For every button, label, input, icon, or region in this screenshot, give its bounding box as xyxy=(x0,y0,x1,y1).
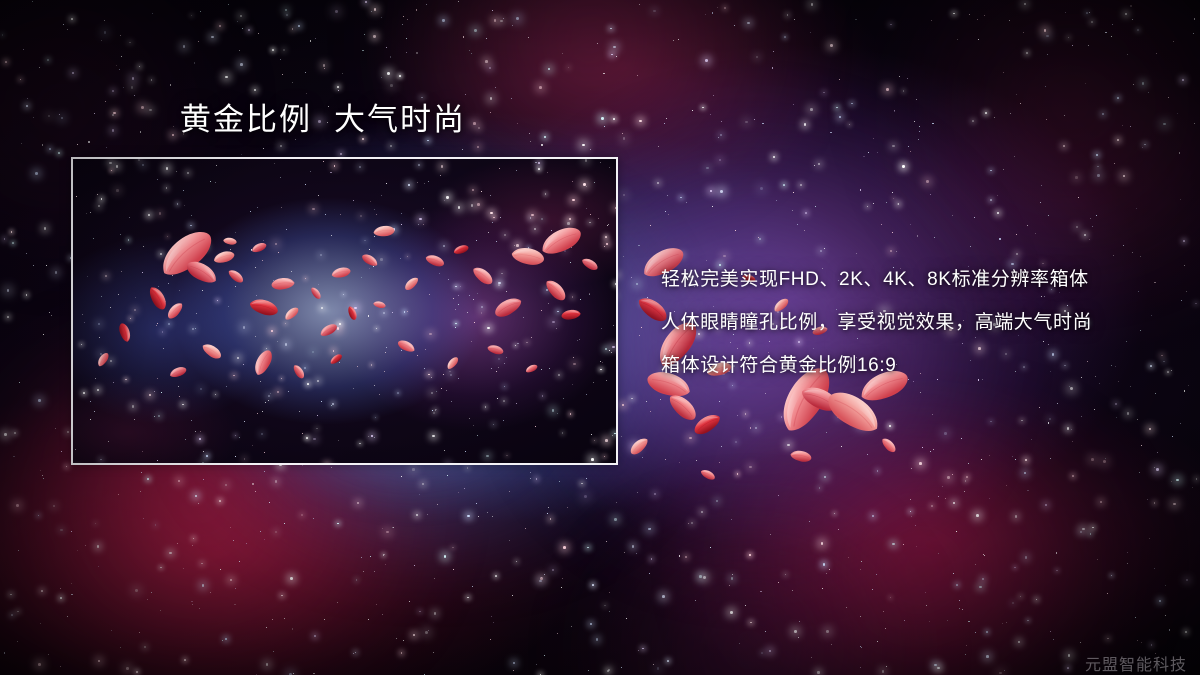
petal xyxy=(146,283,171,313)
page-title-part1: 黄金比例 xyxy=(180,102,312,137)
body-line-3: 箱体设计符合黄金比例16:9 xyxy=(661,344,1161,387)
petal xyxy=(470,263,497,288)
page-title: 黄金比例大气时尚 xyxy=(180,101,466,139)
petal xyxy=(291,362,307,380)
watermark: 元盟智能科技 xyxy=(1085,651,1187,675)
petal xyxy=(373,224,396,238)
petal xyxy=(510,244,547,269)
framed-photo-image xyxy=(73,159,616,463)
petal xyxy=(152,221,221,284)
petal xyxy=(222,236,237,246)
petal xyxy=(318,321,339,339)
petal xyxy=(580,255,601,273)
petal xyxy=(309,285,324,301)
petal xyxy=(328,352,344,367)
petal xyxy=(402,274,420,292)
page-title-part2: 大气时尚 xyxy=(334,102,466,137)
petal xyxy=(346,305,359,322)
framed-photo xyxy=(71,157,618,465)
petal xyxy=(536,221,586,260)
petal xyxy=(524,363,539,375)
slide-canvas: 黄金比例大气时尚 轻松完美实现FHD、2K、4K、8K标准分辨率箱体 人体眼睛瞳… xyxy=(0,0,1200,675)
petal xyxy=(330,265,352,280)
petal xyxy=(486,343,505,357)
petal xyxy=(542,276,570,305)
body-copy: 轻松完美实现FHD、2K、4K、8K标准分辨率箱体 人体眼睛瞳孔比例，享受视觉效… xyxy=(661,258,1161,387)
petal xyxy=(282,305,301,323)
petal xyxy=(445,355,461,372)
petal xyxy=(250,240,268,254)
petal xyxy=(226,266,246,285)
petal xyxy=(95,350,112,368)
petal xyxy=(560,307,582,321)
petal xyxy=(270,275,296,291)
petal xyxy=(250,347,276,379)
body-line-2: 人体眼睛瞳孔比例，享受视觉效果，高端大气时尚 xyxy=(661,301,1161,344)
petal xyxy=(183,256,221,288)
petal xyxy=(491,293,525,322)
petal xyxy=(164,299,185,321)
petal xyxy=(424,252,447,270)
petal xyxy=(168,364,188,380)
petal xyxy=(452,243,470,257)
petal xyxy=(396,337,417,354)
petal xyxy=(212,248,236,265)
petal xyxy=(360,251,381,269)
petal xyxy=(372,299,386,309)
body-line-1: 轻松完美实现FHD、2K、4K、8K标准分辨率箱体 xyxy=(661,258,1161,301)
petal xyxy=(116,321,133,344)
petal xyxy=(200,340,225,362)
petal xyxy=(247,295,280,319)
starfield-inside-frame xyxy=(73,159,616,463)
